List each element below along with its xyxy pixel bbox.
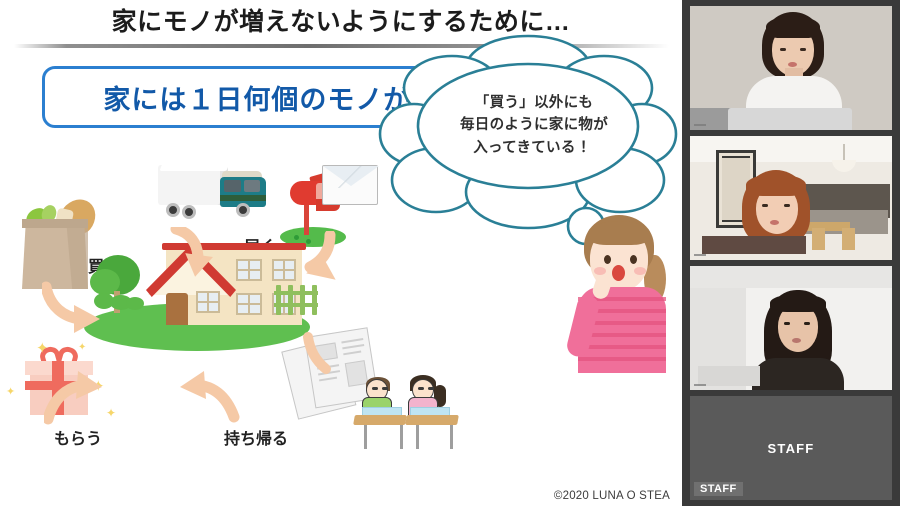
label-receive: もらう	[54, 425, 102, 449]
shared-slide: 家にモノが増えないようにするために… 家には１日何個のモノが入ってくる？ 買う	[0, 0, 682, 506]
video-feed-3	[690, 266, 892, 390]
arrow-truck-to-house	[168, 227, 220, 281]
video-tile-4[interactable]: STAFF STAFF	[690, 396, 892, 500]
video-feed-1	[690, 6, 892, 130]
thinking-woman-illustration	[566, 215, 676, 371]
meeting-screen: 家にモノが増えないようにするために… 家には１日何個のモノが入ってくる？ 買う	[0, 0, 900, 506]
bubble-line-1: 「買う」以外にも	[436, 92, 632, 114]
grocery-bag-icon	[18, 197, 92, 289]
arrow-newspaper-to-house	[286, 331, 332, 377]
participant-video-panel: STAFF STAFF	[682, 0, 900, 506]
arrow-bag-to-house	[42, 281, 104, 335]
video-tile-2[interactable]	[690, 136, 892, 260]
students-icon	[352, 373, 462, 451]
video-tile-1[interactable]	[690, 6, 892, 130]
envelope-icon	[322, 165, 378, 205]
arrow-school-to-house	[178, 371, 240, 425]
bubble-line-2: 毎日のように家に物が	[436, 114, 632, 136]
bubble-line-3: 入ってきている ！	[436, 137, 632, 159]
arrow-gift-to-house	[44, 371, 104, 427]
video-feed-2	[690, 136, 892, 260]
arrow-mailbox-to-house	[286, 231, 342, 287]
copyright-notice: ©2020 LUNA O STEA	[554, 490, 670, 502]
participant-name-tag-2	[694, 254, 706, 256]
participant-name-tag-1	[694, 124, 706, 126]
label-bring-home: 持ち帰る	[224, 425, 288, 449]
fence-icon	[274, 285, 318, 315]
delivery-truck-icon	[158, 163, 274, 229]
participant-name-tag-3	[694, 384, 706, 386]
participant-name-tag-4: STAFF	[694, 482, 743, 496]
thought-bubble-text: 「買う」以外にも 毎日のように家に物が 入ってきている ！	[436, 92, 632, 159]
video-tile-3[interactable]	[690, 266, 892, 390]
